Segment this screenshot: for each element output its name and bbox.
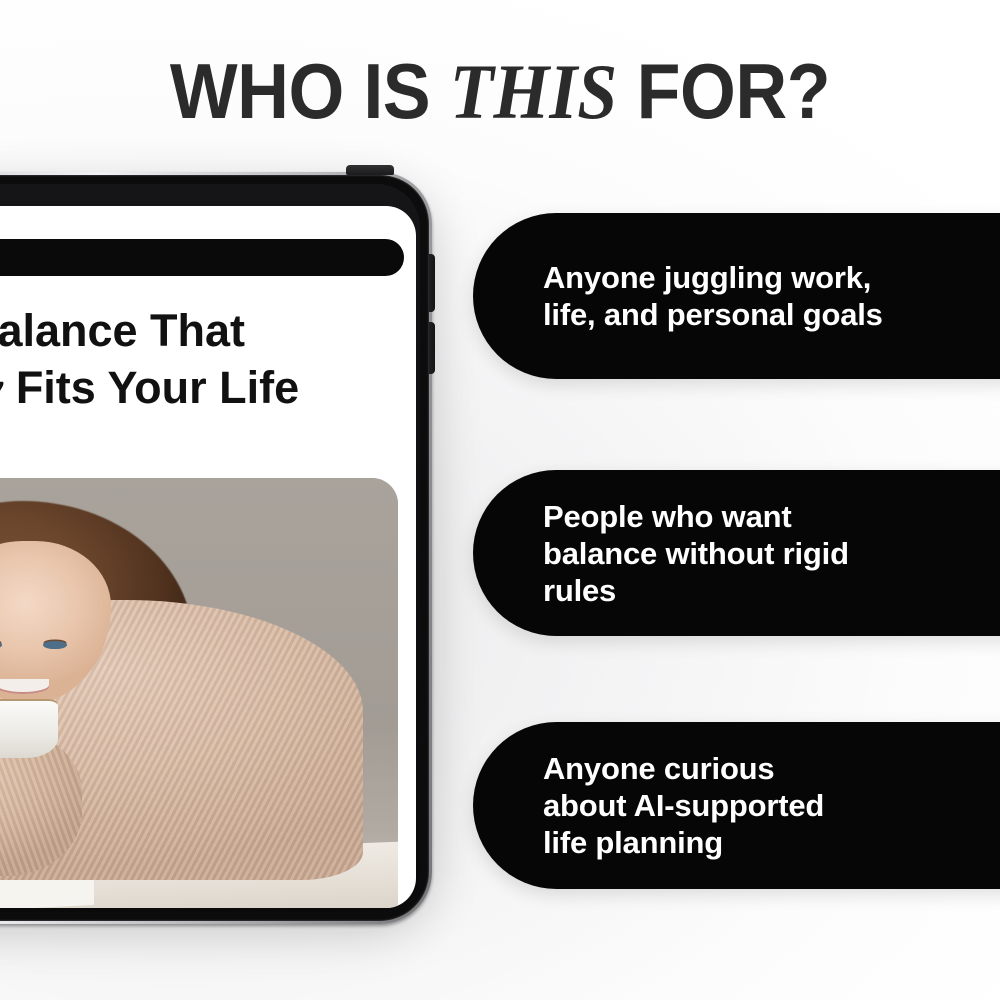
screen-heading-line-2: ually Fits Your Life: [0, 359, 406, 417]
screen-heading-rest: Fits Your Life: [3, 362, 299, 413]
device-bezel-inner: Balance That ually Fits Your Life: [0, 184, 420, 912]
tablet-device: Balance That ually Fits Your Life: [0, 172, 440, 932]
device-frame: Balance That ually Fits Your Life: [0, 172, 432, 924]
screen-heading: Balance That ually Fits Your Life: [0, 302, 416, 417]
page-title-before: WHO IS: [170, 47, 450, 135]
audience-pill-1-text: Anyone juggling work, life, and personal…: [473, 259, 907, 333]
photo-coffee-cup: [0, 699, 58, 758]
audience-pill-1[interactable]: Anyone juggling work, life, and personal…: [473, 213, 1000, 379]
device-screen: Balance That ually Fits Your Life: [0, 206, 416, 908]
audience-pill-2-text: People who want balance without rigid ru…: [473, 498, 873, 609]
screen-photo: [0, 478, 398, 908]
screen-topbar: [0, 239, 404, 276]
page-title: WHO IS THIS FOR?: [40, 48, 960, 135]
power-button[interactable]: [346, 165, 394, 175]
page-title-emphasis: THIS: [450, 48, 617, 135]
audience-pill-3[interactable]: Anyone curious about AI-supported life p…: [473, 722, 1000, 889]
audience-pill-2[interactable]: People who want balance without rigid ru…: [473, 470, 1000, 636]
device-bezel: Balance That ually Fits Your Life: [0, 175, 429, 921]
page-title-after: FOR?: [617, 47, 830, 135]
photo-smile: [0, 679, 49, 693]
screen-heading-line-1: Balance That: [0, 302, 406, 359]
audience-pill-3-text: Anyone curious about AI-supported life p…: [473, 750, 848, 861]
slide-canvas: WHO IS THIS FOR? Balance That ually Fits…: [0, 0, 1000, 1000]
